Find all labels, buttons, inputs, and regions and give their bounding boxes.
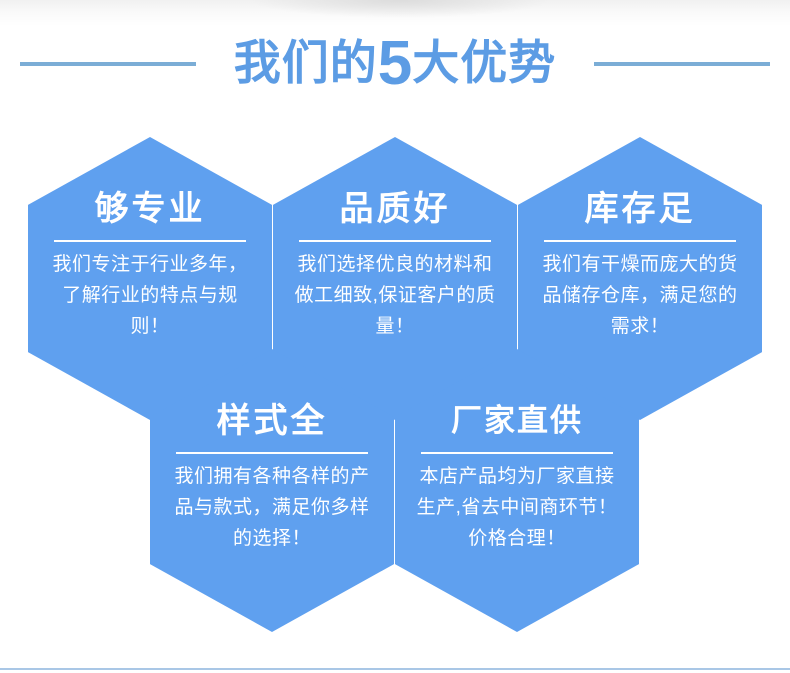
advantages-honeycomb: 够专业 我们专注于行业多年，了解行业的特点与规则！ 品质好 我们选择优良的材料和… [0,0,790,673]
advantage-content-2: 品质好 我们选择优良的材料和做工细致,保证客户的质量！ [273,187,517,342]
advantage-content-4: 样式全 我们拥有各种各样的产品与款式，满足你多样的选择！ [150,399,394,554]
advantage-divider-1 [54,240,246,242]
advantage-divider-3 [544,240,736,242]
advantage-divider-4 [176,452,368,454]
advantage-desc-5: 本店产品均为厂家直接生产,省去中间商环节！价格合理！ [395,461,639,554]
advantage-divider-2 [299,240,491,242]
advantage-desc-2: 我们选择优良的材料和做工细致,保证客户的质量！ [273,249,517,342]
advantage-desc-3: 我们有干燥而庞大的货品储存仓库，满足您的需求！ [518,249,762,342]
advantage-desc-4: 我们拥有各种各样的产品与款式，满足你多样的选择！ [150,461,394,554]
bottom-divider [0,668,790,670]
advantage-desc-1: 我们专注于行业多年，了解行业的特点与规则！ [28,249,272,342]
advantage-content-3: 库存足 我们有干燥而庞大的货品储存仓库，满足您的需求！ [518,187,762,342]
advantage-title-4: 样式全 [150,399,394,443]
advantage-title-1: 够专业 [28,187,272,231]
advantage-title-5: 厂家直供 [395,399,639,443]
advantage-content-1: 够专业 我们专注于行业多年，了解行业的特点与规则！ [28,187,272,342]
advantage-title-3: 库存足 [518,187,762,231]
advantage-divider-5 [421,452,613,454]
advantage-title-2: 品质好 [273,187,517,231]
advantage-content-5: 厂家直供 本店产品均为厂家直接生产,省去中间商环节！价格合理！ [395,399,639,554]
